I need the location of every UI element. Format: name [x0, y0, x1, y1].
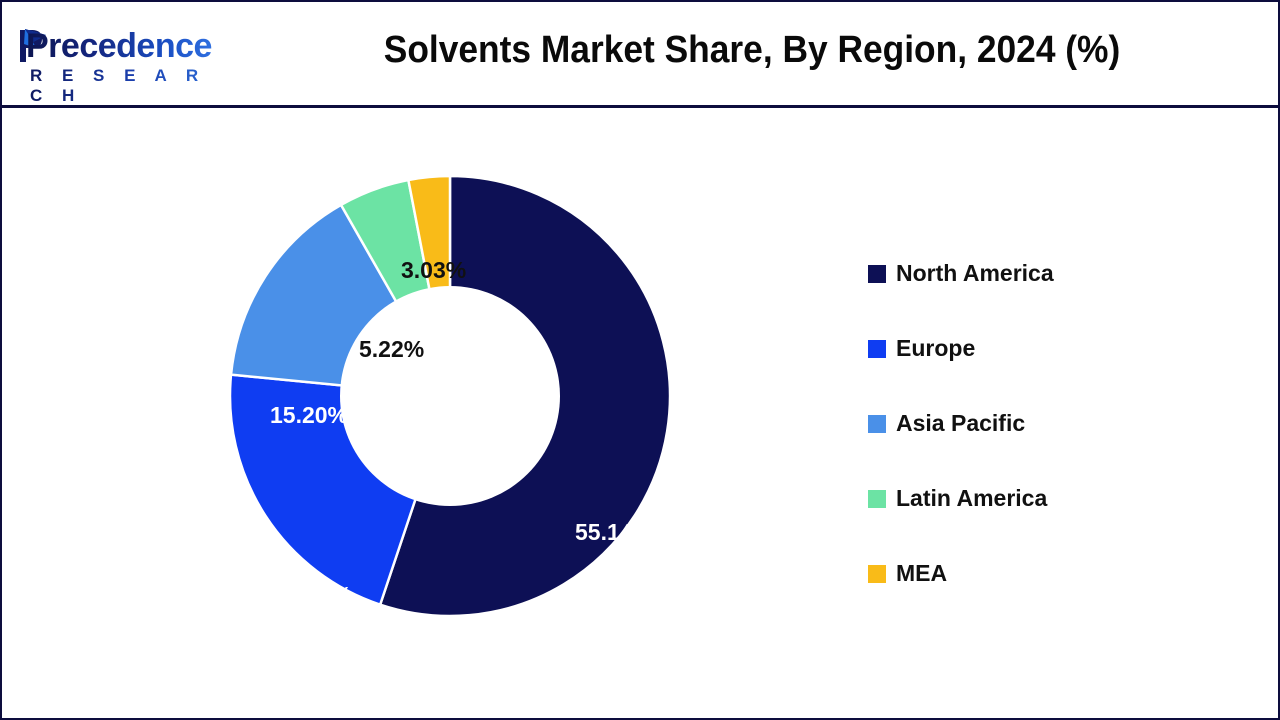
legend-swatch-icon — [868, 265, 886, 283]
page-header: Precedence R E S E A R C H Solvents Mark… — [2, 2, 1278, 108]
precedence-research-logo: Precedence R E S E A R C H — [16, 24, 236, 90]
slice-label-mea: 3.03% — [401, 257, 466, 284]
legend-label: MEA — [896, 562, 947, 585]
legend-item-latin-america[interactable]: Latin America — [868, 461, 1208, 536]
legend-label: Asia Pacific — [896, 412, 1025, 435]
slice-label-asia-pacific: 15.20% — [270, 402, 348, 429]
legend-swatch-icon — [868, 415, 886, 433]
legend-label: North America — [896, 262, 1054, 285]
donut-chart — [230, 175, 670, 617]
slice-label-north-america: 55.14% — [575, 519, 653, 546]
legend-item-europe[interactable]: Europe — [868, 311, 1208, 386]
logo-wordmark: Precedence — [26, 26, 212, 66]
slice-label-latin-america: 5.22% — [359, 336, 424, 363]
legend-item-mea[interactable]: MEA — [868, 536, 1208, 611]
chart-page: Precedence R E S E A R C H Solvents Mark… — [0, 0, 1280, 720]
legend-label: Europe — [896, 337, 975, 360]
chart-body: 55.14% 21.41% 15.20% 5.22% 3.03% North A… — [2, 108, 1278, 718]
legend-item-north-america[interactable]: North America — [868, 236, 1208, 311]
chart-legend: North America Europe Asia Pacific Latin … — [868, 236, 1208, 611]
legend-swatch-icon — [868, 490, 886, 508]
donut-hole — [340, 286, 560, 506]
legend-label: Latin America — [896, 487, 1047, 510]
legend-item-asia-pacific[interactable]: Asia Pacific — [868, 386, 1208, 461]
legend-swatch-icon — [868, 565, 886, 583]
slice-label-europe: 21.41% — [274, 582, 352, 609]
page-title: Solvents Market Share, By Region, 2024 (… — [287, 29, 1217, 72]
donut-chart-svg — [230, 175, 670, 617]
legend-swatch-icon — [868, 340, 886, 358]
logo-subtitle: R E S E A R C H — [30, 66, 236, 106]
